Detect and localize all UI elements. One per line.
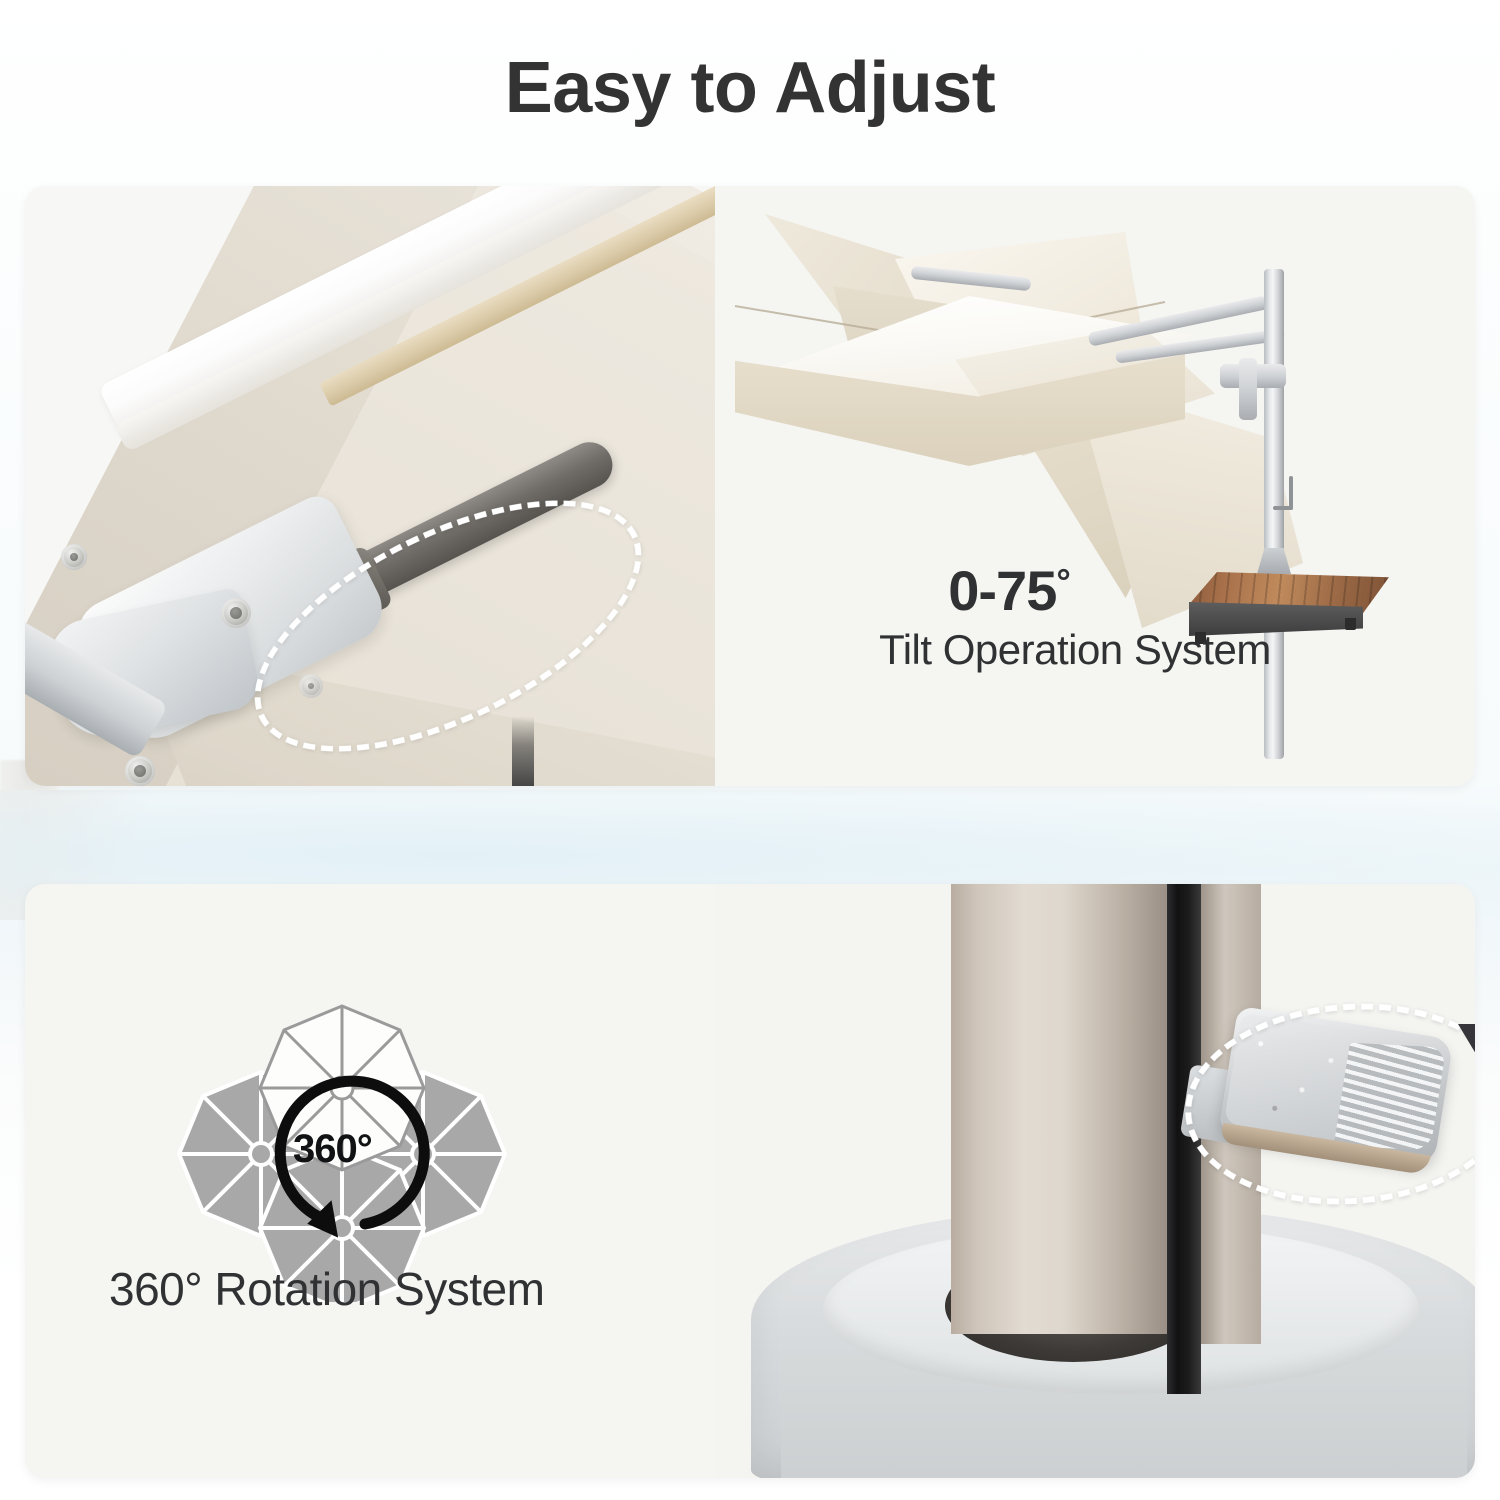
crank-handle-icon <box>1289 476 1293 510</box>
degree-symbol-icon: ° <box>1056 561 1069 602</box>
pedal-scene <box>715 884 1475 1478</box>
tilt-illustration: 0-75° Tilt Operation System <box>715 186 1475 786</box>
bolt-icon <box>61 544 87 570</box>
pole-joint <box>1239 358 1257 420</box>
down-arrow-icon <box>1455 914 1475 1094</box>
rotation-center-label: 360° <box>293 1127 372 1172</box>
umbrella-pole <box>951 884 1167 1334</box>
arrow-shaft <box>512 716 534 786</box>
down-arrow-icon <box>487 716 559 786</box>
hinge-scene <box>25 186 715 786</box>
page-title: Easy to Adjust <box>0 52 1500 124</box>
rotation-panel: 360° 360° Rotation System <box>25 884 1475 1478</box>
rotation-caption: 360° Rotation System <box>109 1262 544 1316</box>
tilt-caption: Tilt Operation System <box>715 626 1475 674</box>
umbrella-scene: 0-75° Tilt Operation System <box>715 186 1475 786</box>
hinge-photo <box>25 186 715 786</box>
tilt-degrees-value: 0-75 <box>948 559 1056 622</box>
tilt-panel: 0-75° Tilt Operation System <box>25 186 1475 786</box>
bolt-icon <box>221 598 251 628</box>
arrow-head <box>1458 1024 1475 1094</box>
tilt-degrees-label: 0-75° <box>715 558 1475 623</box>
pedal-photo <box>715 884 1475 1478</box>
umbrella-pole <box>1264 269 1284 759</box>
rotation-illustration: 360° 360° Rotation System <box>25 884 715 1478</box>
bolt-icon <box>125 756 155 786</box>
